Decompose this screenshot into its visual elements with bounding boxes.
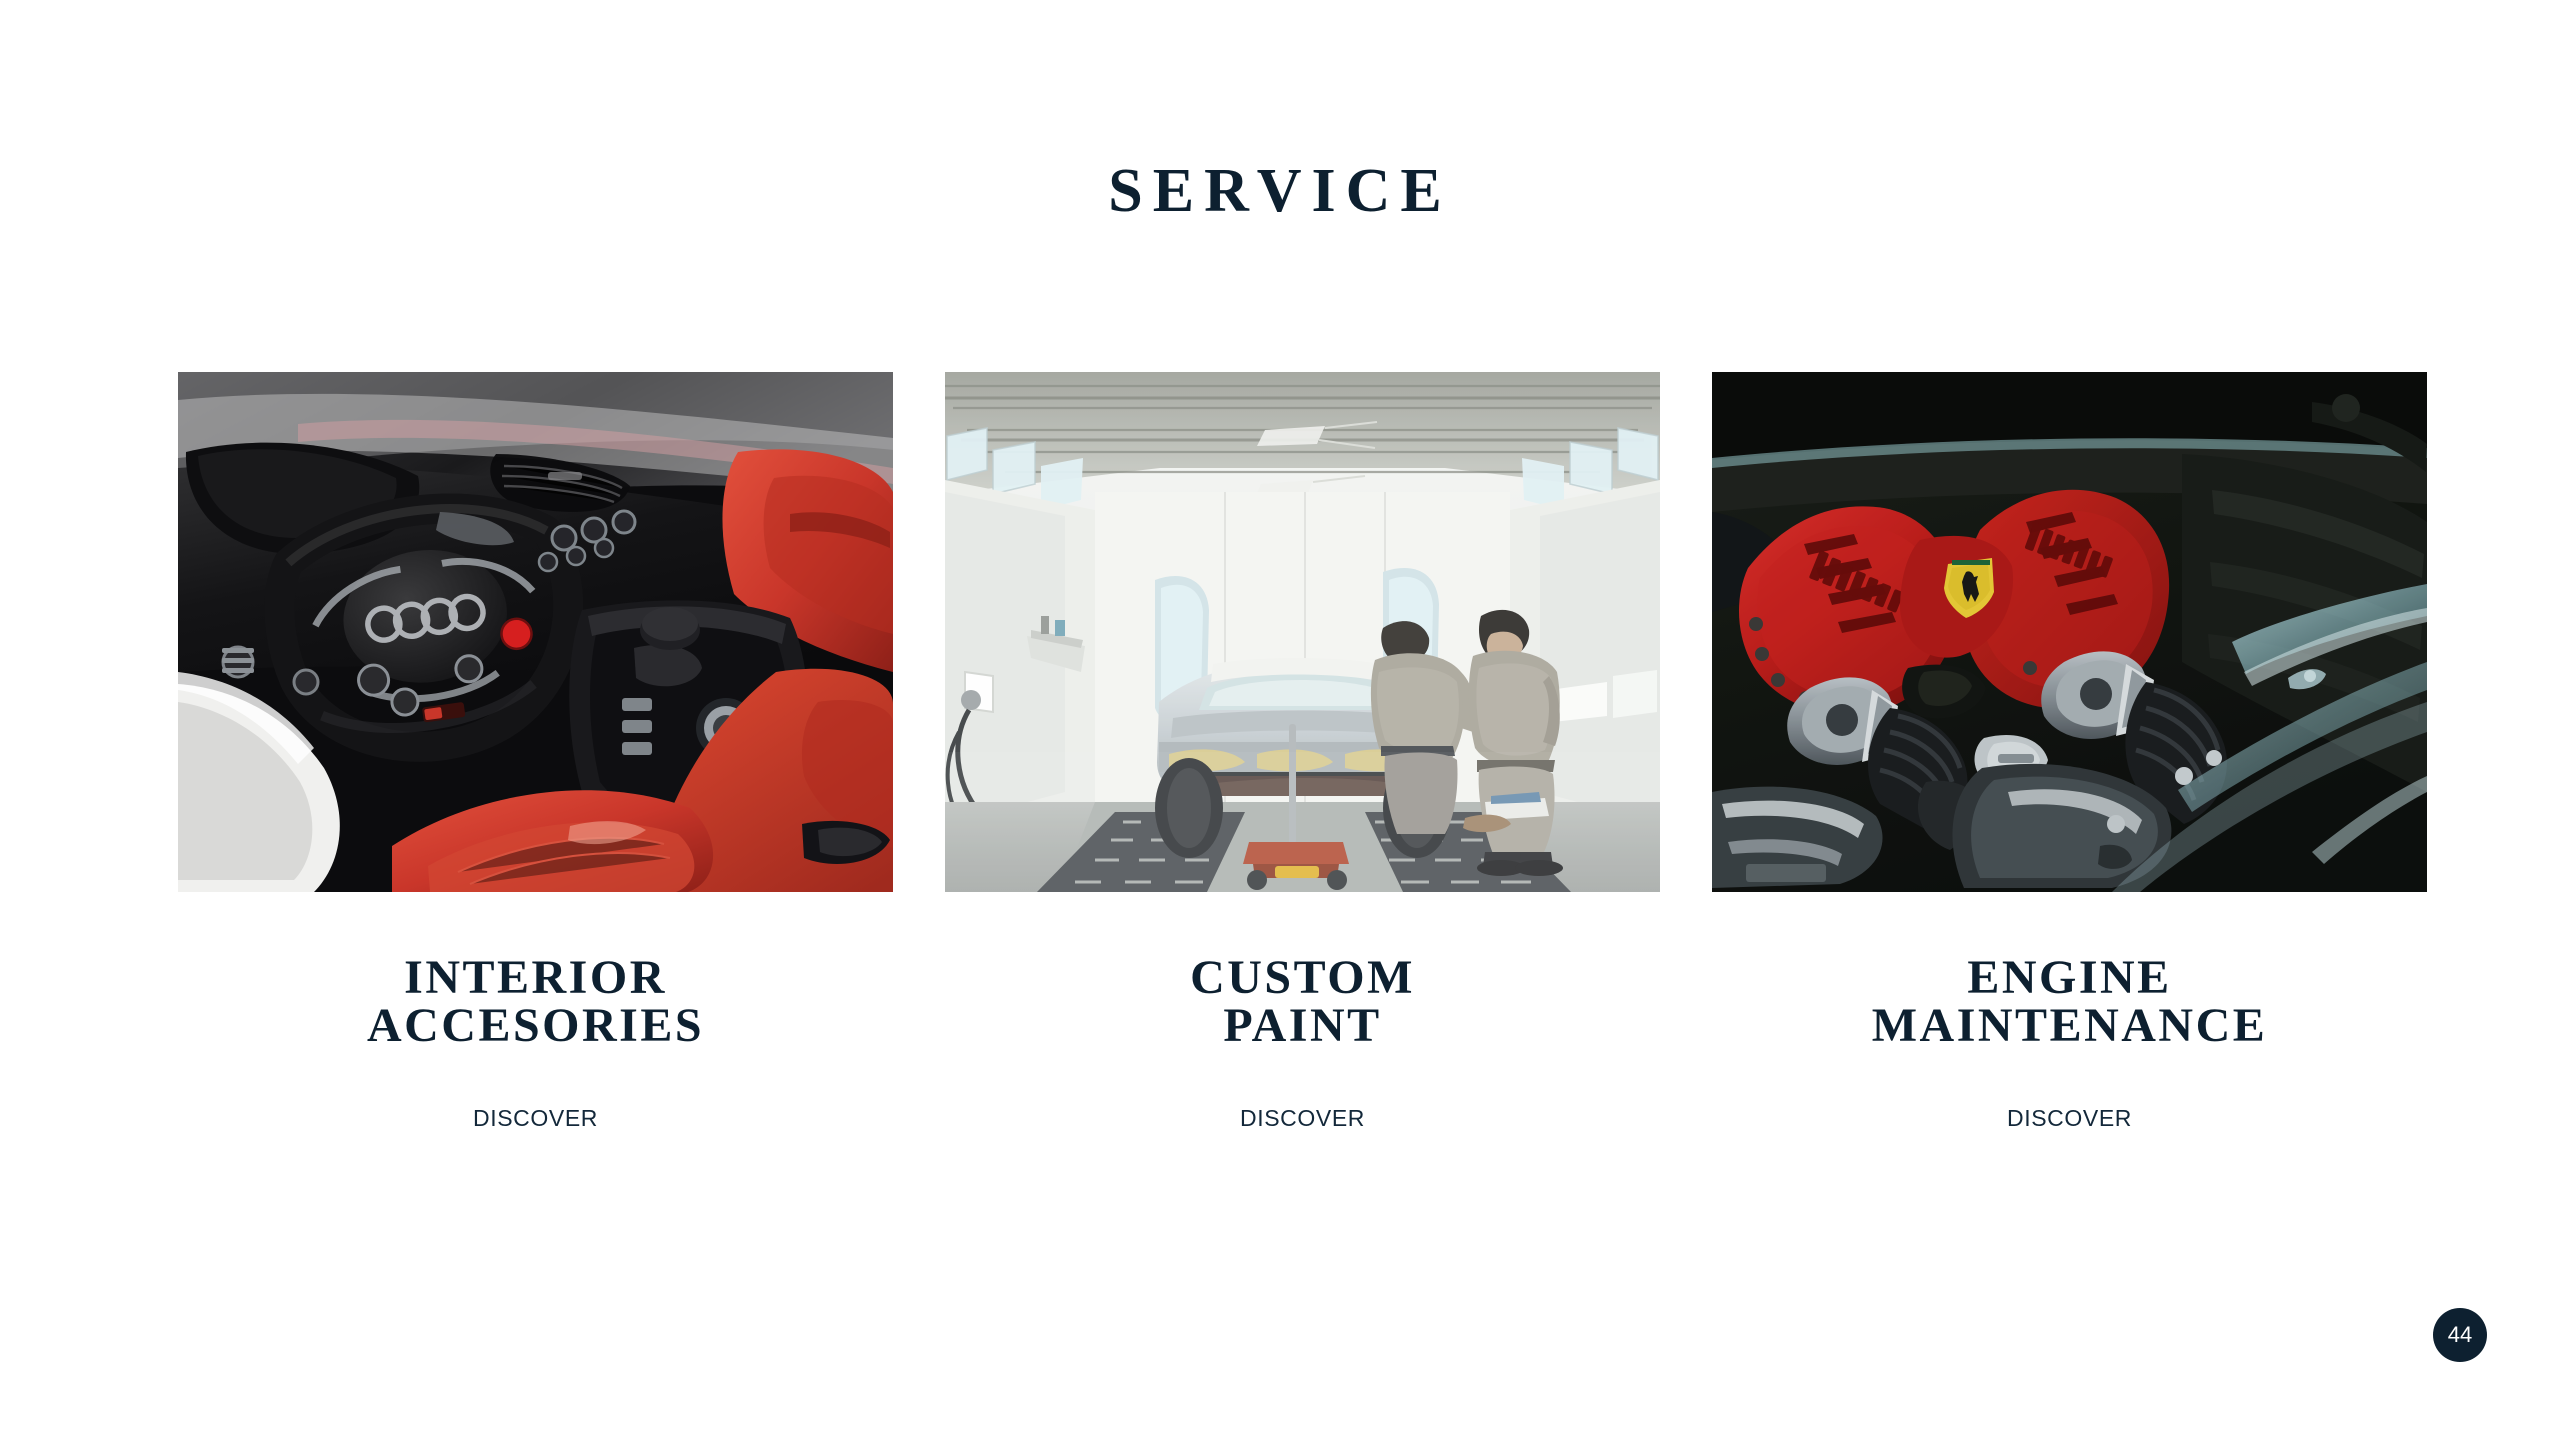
card-title: INTERIOR ACCESORIES [178,954,893,1050]
discover-link[interactable]: DISCOVER [1712,1105,2427,1132]
service-card-custom-paint[interactable]: CUSTOM PAINT DISCOVER [945,372,1660,1132]
page-title: SERVICE [0,160,2560,222]
service-card-interior-accesories[interactable]: INTERIOR ACCESORIES DISCOVER [178,372,893,1132]
spray-booth-illustration [945,372,1660,892]
card-image-interior-accesories [178,372,893,892]
audi-r8-interior-illustration [178,372,893,892]
card-image-custom-paint [945,372,1660,892]
discover-link[interactable]: DISCOVER [178,1105,893,1132]
card-title: ENGINE MAINTENANCE [1712,954,2427,1050]
page-number-badge: 44 [2433,1308,2487,1362]
ferrari-v8-engine-illustration [1712,372,2427,892]
card-image-engine-maintenance [1712,372,2427,892]
service-cards-row: INTERIOR ACCESORIES DISCOVER [178,372,2430,1132]
discover-link[interactable]: DISCOVER [945,1105,1660,1132]
service-card-engine-maintenance[interactable]: ENGINE MAINTENANCE DISCOVER [1712,372,2427,1132]
card-title: CUSTOM PAINT [945,954,1660,1050]
